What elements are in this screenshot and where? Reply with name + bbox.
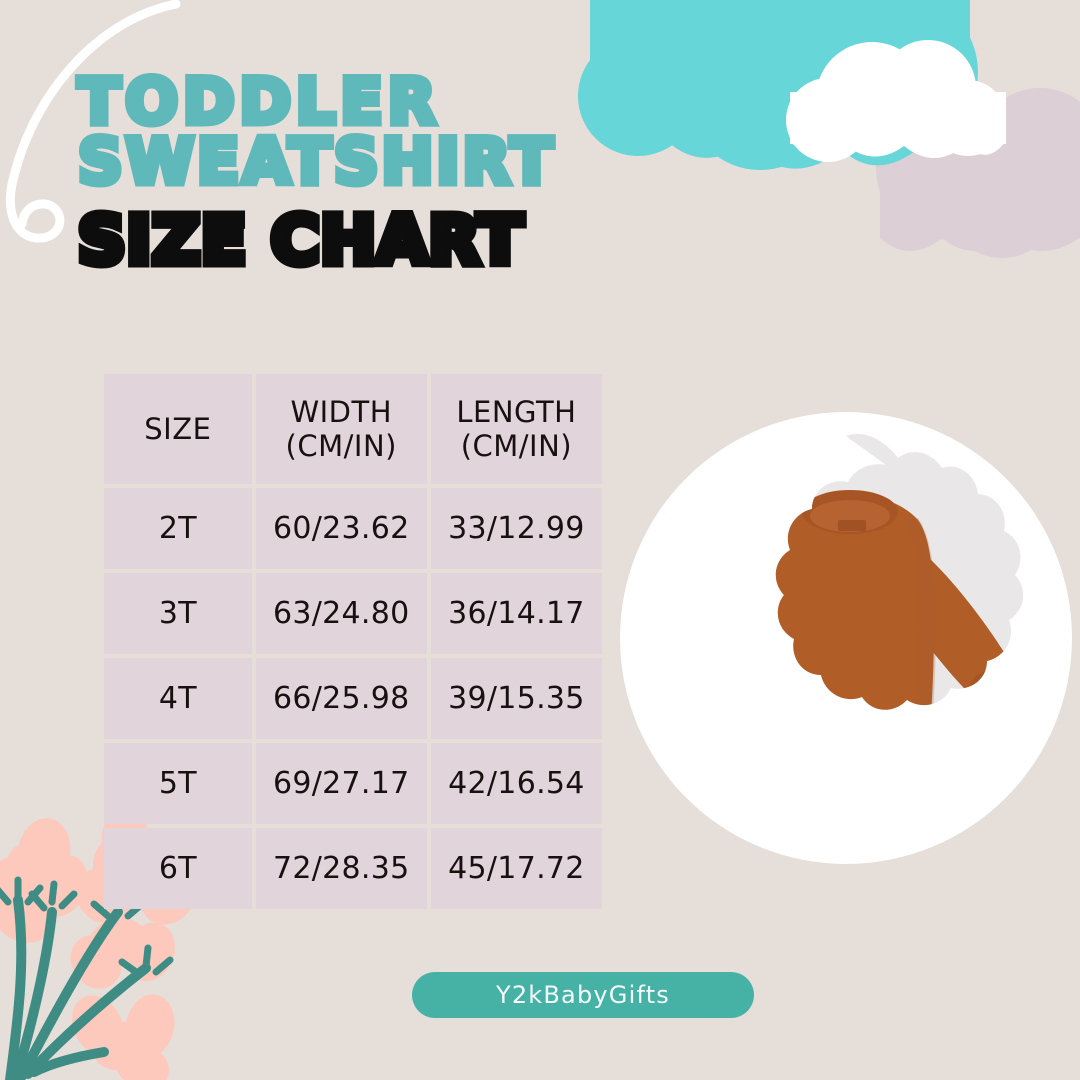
cell-width: 72/28.35 [256, 828, 427, 909]
table-row: 6T 72/28.35 45/17.72 [104, 828, 602, 909]
column-header-width: WIDTH (CM/IN) [256, 374, 427, 484]
table-header-row: SIZE WIDTH (CM/IN) LENGTH (CM/IN) [104, 374, 602, 484]
title-line-2: SWEATSHIRT [78, 132, 738, 192]
cell-length: 33/12.99 [431, 488, 602, 569]
size-chart-canvas: TODDLER SWEATSHIRT SIZE CHART SIZE WIDTH… [0, 0, 1080, 1080]
column-header-length-unit: (CM/IN) [461, 429, 572, 463]
table-row: 4T 66/25.98 39/15.35 [104, 658, 602, 739]
table-row: 3T 63/24.80 36/14.17 [104, 573, 602, 654]
cell-size: 2T [104, 488, 252, 569]
column-header-length-label: LENGTH [456, 395, 576, 429]
cell-size: 3T [104, 573, 252, 654]
cell-width: 66/25.98 [256, 658, 427, 739]
table-row: 5T 69/27.17 42/16.54 [104, 743, 602, 824]
column-header-width-label: WIDTH [290, 395, 392, 429]
column-header-size: SIZE [104, 374, 252, 484]
cell-width: 63/24.80 [256, 573, 427, 654]
cell-length: 42/16.54 [431, 743, 602, 824]
cell-size: 6T [104, 828, 252, 909]
product-image-frame [620, 412, 1072, 864]
title-subtitle: SIZE CHART [78, 208, 738, 274]
cell-size: 5T [104, 743, 252, 824]
column-header-width-unit: (CM/IN) [286, 429, 397, 463]
cell-size: 4T [104, 658, 252, 739]
size-chart-table: SIZE WIDTH (CM/IN) LENGTH (CM/IN) 2T 60/… [100, 370, 606, 913]
cell-length: 39/15.35 [431, 658, 602, 739]
shop-name-label: Y2kBabyGifts [496, 981, 670, 1009]
cell-width: 60/23.62 [256, 488, 427, 569]
cell-length: 45/17.72 [431, 828, 602, 909]
cell-width: 69/27.17 [256, 743, 427, 824]
table-row: 2T 60/23.62 33/12.99 [104, 488, 602, 569]
shop-name-badge[interactable]: Y2kBabyGifts [412, 972, 754, 1018]
page-title: TODDLER SWEATSHIRT SIZE CHART [78, 72, 738, 274]
column-header-size-label: SIZE [144, 412, 211, 446]
column-header-length: LENGTH (CM/IN) [431, 374, 602, 484]
title-line-1: TODDLER [78, 72, 738, 132]
cell-length: 36/14.17 [431, 573, 602, 654]
